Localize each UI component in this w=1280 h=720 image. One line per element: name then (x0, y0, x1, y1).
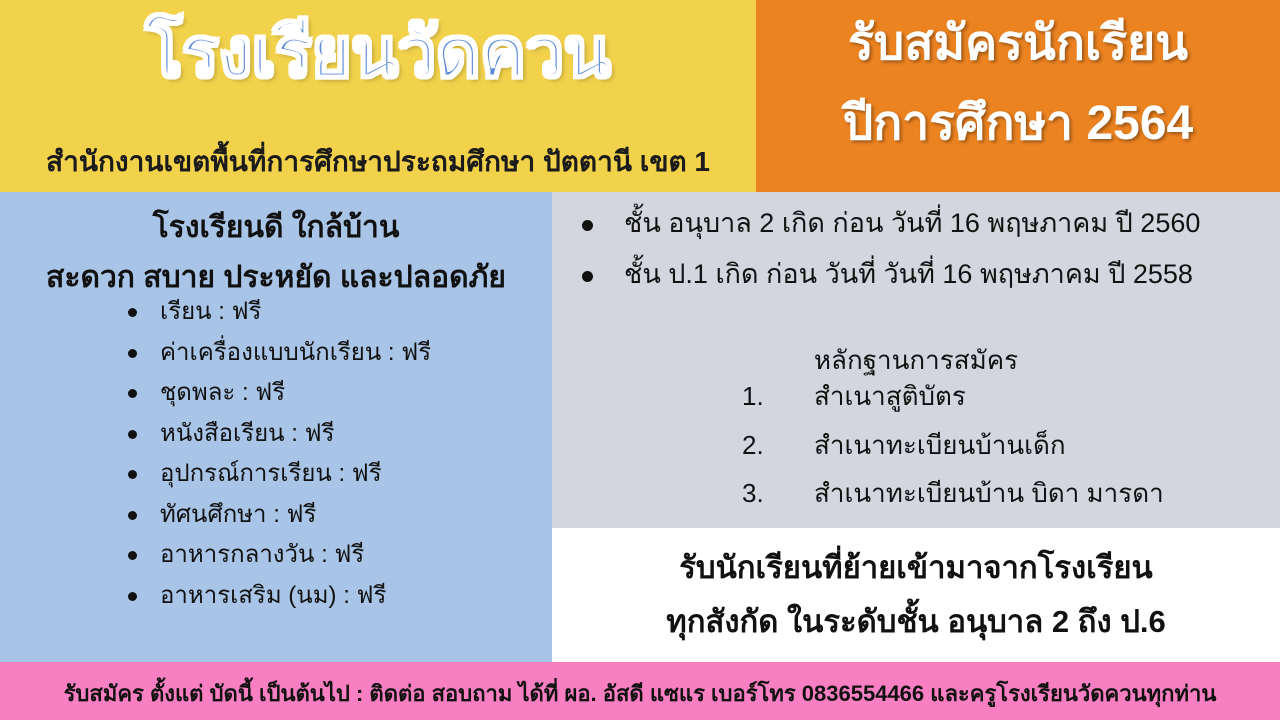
transfer-notice-line1: รับนักเรียนที่ย้ายเข้ามาจากโรงเรียน (552, 542, 1280, 592)
benefits-list: เรียน : ฟรี ค่าเครื่องแบบนักเรียน : ฟรี … (120, 300, 550, 624)
list-item: เรียน : ฟรี (120, 300, 550, 324)
list-item-number: 1. (742, 382, 786, 411)
admission-title-line2: ปีการศึกษา 2564 (756, 98, 1280, 151)
list-item: อาหารเสริม (นม) : ฟรี (120, 584, 550, 608)
admission-title-line1: รับสมัครนักเรียน (756, 18, 1280, 71)
list-item: ชั้น อนุบาล 2 เกิด ก่อน วันที่ 16 พฤษภาค… (562, 208, 1280, 239)
list-item: ชุดพละ : ฟรี (120, 381, 550, 405)
documents-heading: หลักฐานการสมัคร (552, 340, 1280, 381)
qualifications-panel: ชั้น อนุบาล 2 เกิด ก่อน วันที่ 16 พฤษภาค… (552, 192, 1280, 528)
school-name: โรงเรียนวัดควน (0, 18, 756, 89)
list-item: อุปกรณ์การเรียน : ฟรี (120, 462, 550, 486)
list-item-label: สำเนาทะเบียนบ้าน บิดา มารดา (814, 478, 1164, 508)
transfer-notice-panel: รับนักเรียนที่ย้ายเข้ามาจากโรงเรียน ทุกส… (552, 528, 1280, 662)
footer-contact-text: รับสมัคร ตั้งแต่ บัดนี้ เป็นต้นไป : ติดต… (0, 676, 1280, 711)
list-item: 3. สำเนาทะเบียนบ้าน บิดา มารดา (742, 479, 1280, 508)
transfer-notice-line2: ทุกสังกัด ในระดับชั้น อนุบาล 2 ถึง ป.6 (552, 596, 1280, 646)
education-office-line: สำนักงานเขตพื้นที่การศึกษาประถมศึกษา ปัต… (0, 140, 756, 184)
footer-bar: รับสมัคร ตั้งแต่ บัดนี้ เป็นต้นไป : ติดต… (0, 662, 1280, 720)
benefits-title-line2: สะดวก สบาย ประหยัด และปลอดภัย (0, 254, 552, 301)
list-item-number: 2. (742, 431, 786, 460)
benefits-title-line1: โรงเรียนดี ใกล้บ้าน (0, 204, 552, 251)
list-item: ชั้น ป.1 เกิด ก่อน วันที่ วันที่ 16 พฤษภ… (562, 259, 1280, 290)
list-item-number: 3. (742, 479, 786, 508)
list-item: หนังสือเรียน : ฟรี (120, 422, 550, 446)
list-item: อาหารกลางวัน : ฟรี (120, 543, 550, 567)
admission-poster: โรงเรียนวัดควน สำนักงานเขตพื้นที่การศึกษ… (0, 0, 1280, 720)
list-item: 1. สำเนาสูติบัตร (742, 382, 1280, 411)
documents-list: 1. สำเนาสูติบัตร 2. สำเนาทะเบียนบ้านเด็ก… (742, 382, 1280, 528)
list-item-label: สำเนาสูติบัตร (814, 381, 966, 411)
list-item: ทัศนศึกษา : ฟรี (120, 503, 550, 527)
list-item: ค่าเครื่องแบบนักเรียน : ฟรี (120, 341, 550, 365)
qualifications-list: ชั้น อนุบาล 2 เกิด ก่อน วันที่ 16 พฤษภาค… (562, 208, 1280, 310)
list-item-label: สำเนาทะเบียนบ้านเด็ก (814, 430, 1066, 460)
benefits-panel: โรงเรียนดี ใกล้บ้าน สะดวก สบาย ประหยัด แ… (0, 192, 552, 662)
list-item: 2. สำเนาทะเบียนบ้านเด็ก (742, 431, 1280, 460)
